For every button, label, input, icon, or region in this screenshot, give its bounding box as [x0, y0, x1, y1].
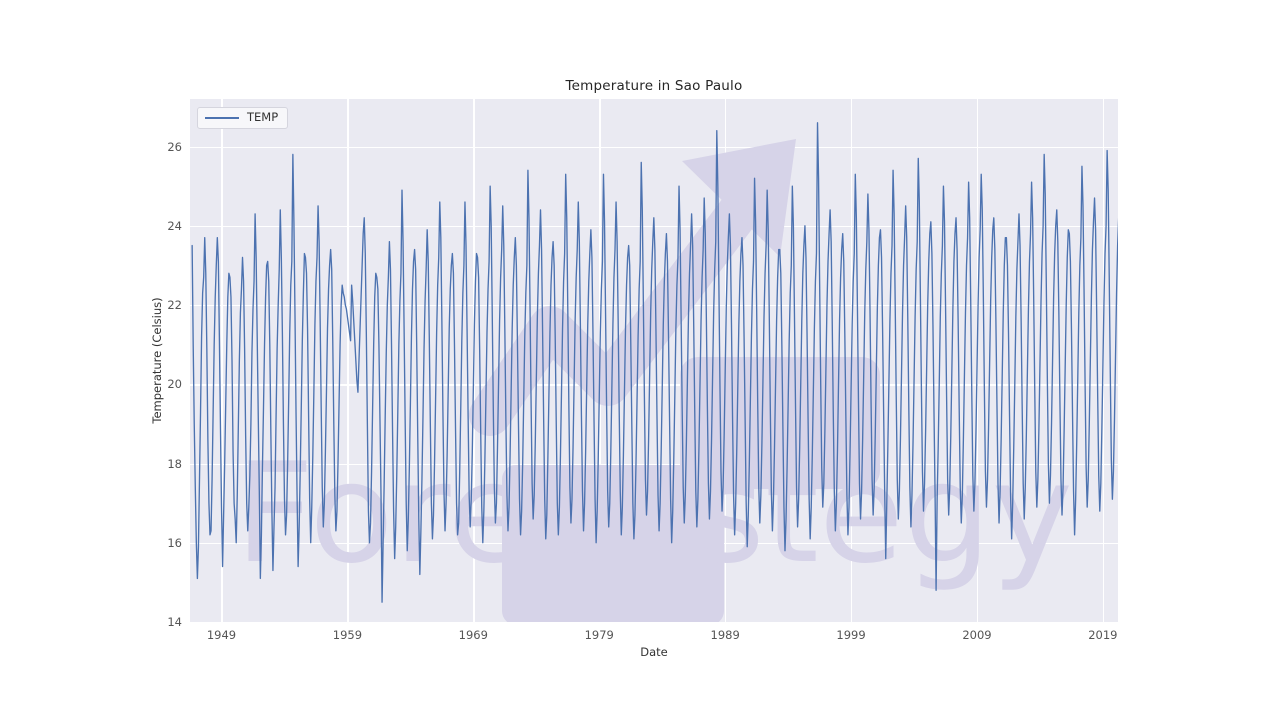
chart-figure: Temperature in Sao Paulo Temperature (Ce…	[0, 0, 1280, 720]
series-line-temp	[192, 123, 1118, 602]
plot-area: Forecastegy	[190, 99, 1118, 622]
x-tick-label: 1969	[433, 628, 513, 642]
x-tick-label: 1959	[307, 628, 387, 642]
x-tick-label: 2019	[1063, 628, 1143, 642]
data-series-temp	[190, 99, 1118, 622]
y-tick-label: 24	[138, 219, 182, 233]
chart-title: Temperature in Sao Paulo	[190, 78, 1118, 94]
legend-line-swatch-temp	[205, 117, 239, 119]
y-axis-ticks: 14161820222426	[138, 99, 182, 622]
x-tick-label: 1949	[181, 628, 261, 642]
legend-label-temp: TEMP	[247, 112, 278, 124]
y-tick-label: 26	[138, 140, 182, 154]
x-tick-label: 1989	[685, 628, 765, 642]
y-tick-label: 20	[138, 377, 182, 391]
chart-legend[interactable]: TEMP	[197, 107, 288, 129]
y-tick-label: 22	[138, 298, 182, 312]
x-axis-label: Date	[190, 645, 1118, 659]
x-axis-ticks: 19491959196919791989199920092019	[190, 628, 1118, 646]
y-tick-label: 18	[138, 457, 182, 471]
x-tick-label: 2009	[937, 628, 1017, 642]
y-tick-label: 16	[138, 536, 182, 550]
y-tick-label: 14	[138, 615, 182, 629]
x-tick-label: 1979	[559, 628, 639, 642]
x-tick-label: 1999	[811, 628, 891, 642]
